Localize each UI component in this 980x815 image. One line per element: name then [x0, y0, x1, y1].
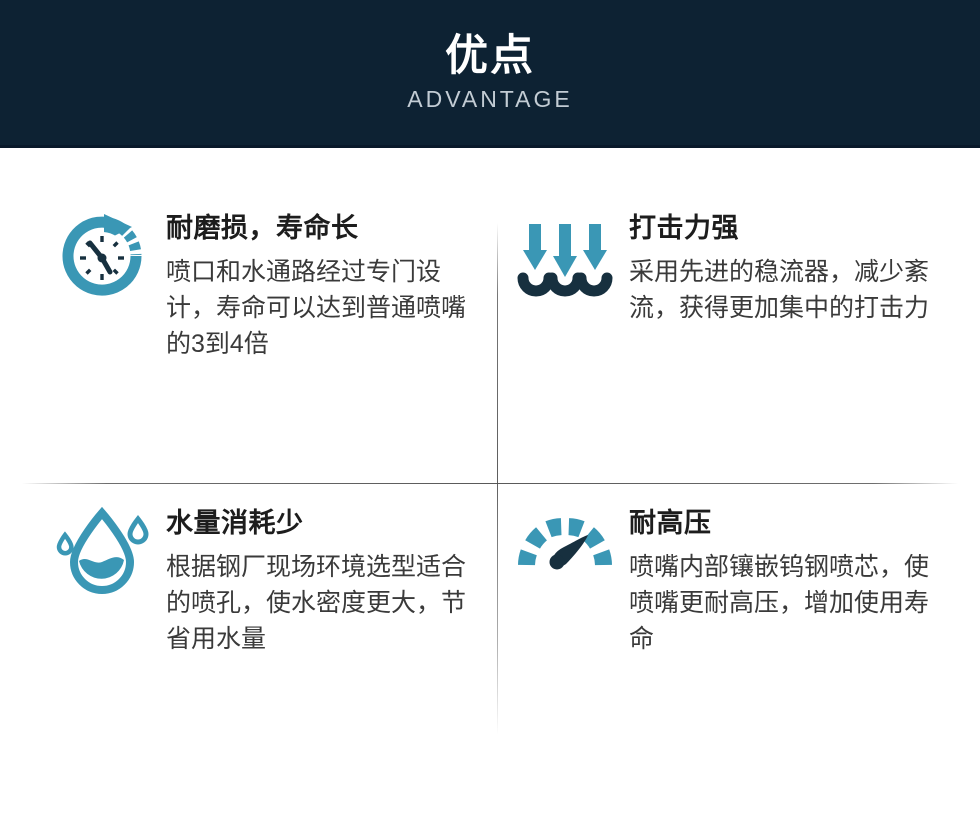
page-title: 优点 — [445, 34, 535, 79]
feature-item-wear-resistance: 耐磨损，寿命长 喷口和水通路经过专门设计，寿命可以达到普通喷嘴的3到4倍 — [52, 210, 482, 362]
feature-description: 根据钢厂现场环境选型适合的喷孔，使水密度更大，节省用水量 — [166, 549, 482, 657]
feature-text-block: 打击力强 采用先进的稳流器，减少紊流，获得更加集中的打击力 — [629, 210, 945, 326]
feature-item-impact-force: 打击力强 采用先进的稳流器，减少紊流，获得更加集中的打击力 — [515, 210, 945, 326]
feature-grid: 耐磨损，寿命长 喷口和水通路经过专门设计，寿命可以达到普通喷嘴的3到4倍 — [0, 148, 980, 815]
feature-text-block: 耐磨损，寿命长 喷口和水通路经过专门设计，寿命可以达到普通喷嘴的3到4倍 — [166, 210, 482, 362]
advantage-page: 优点 ADVANTAGE — [0, 0, 980, 815]
down-arrows-wave-icon — [515, 210, 623, 308]
water-drop-icon — [52, 505, 160, 603]
feature-text-block: 耐高压 喷嘴内部镶嵌钨钢喷芯，使喷嘴更耐高压，增加使用寿命 — [629, 505, 945, 657]
clock-refresh-icon — [52, 210, 160, 308]
feature-description: 喷口和水通路经过专门设计，寿命可以达到普通喷嘴的3到4倍 — [166, 254, 482, 362]
horizontal-divider — [22, 483, 958, 484]
page-header-banner: 优点 ADVANTAGE — [0, 0, 980, 148]
feature-text-block: 水量消耗少 根据钢厂现场环境选型适合的喷孔，使水密度更大，节省用水量 — [166, 505, 482, 657]
feature-item-high-pressure: 耐高压 喷嘴内部镶嵌钨钢喷芯，使喷嘴更耐高压，增加使用寿命 — [515, 505, 945, 657]
feature-title: 耐高压 — [629, 507, 945, 539]
feature-title: 耐磨损，寿命长 — [166, 212, 482, 244]
pressure-gauge-icon — [515, 505, 623, 603]
feature-title: 水量消耗少 — [166, 507, 482, 539]
feature-description: 喷嘴内部镶嵌钨钢喷芯，使喷嘴更耐高压，增加使用寿命 — [629, 549, 945, 657]
vertical-divider — [497, 223, 498, 735]
feature-title: 打击力强 — [629, 212, 945, 244]
page-subtitle: ADVANTAGE — [407, 88, 572, 111]
feature-description: 采用先进的稳流器，减少紊流，获得更加集中的打击力 — [629, 254, 945, 326]
feature-item-water-saving: 水量消耗少 根据钢厂现场环境选型适合的喷孔，使水密度更大，节省用水量 — [52, 505, 482, 657]
